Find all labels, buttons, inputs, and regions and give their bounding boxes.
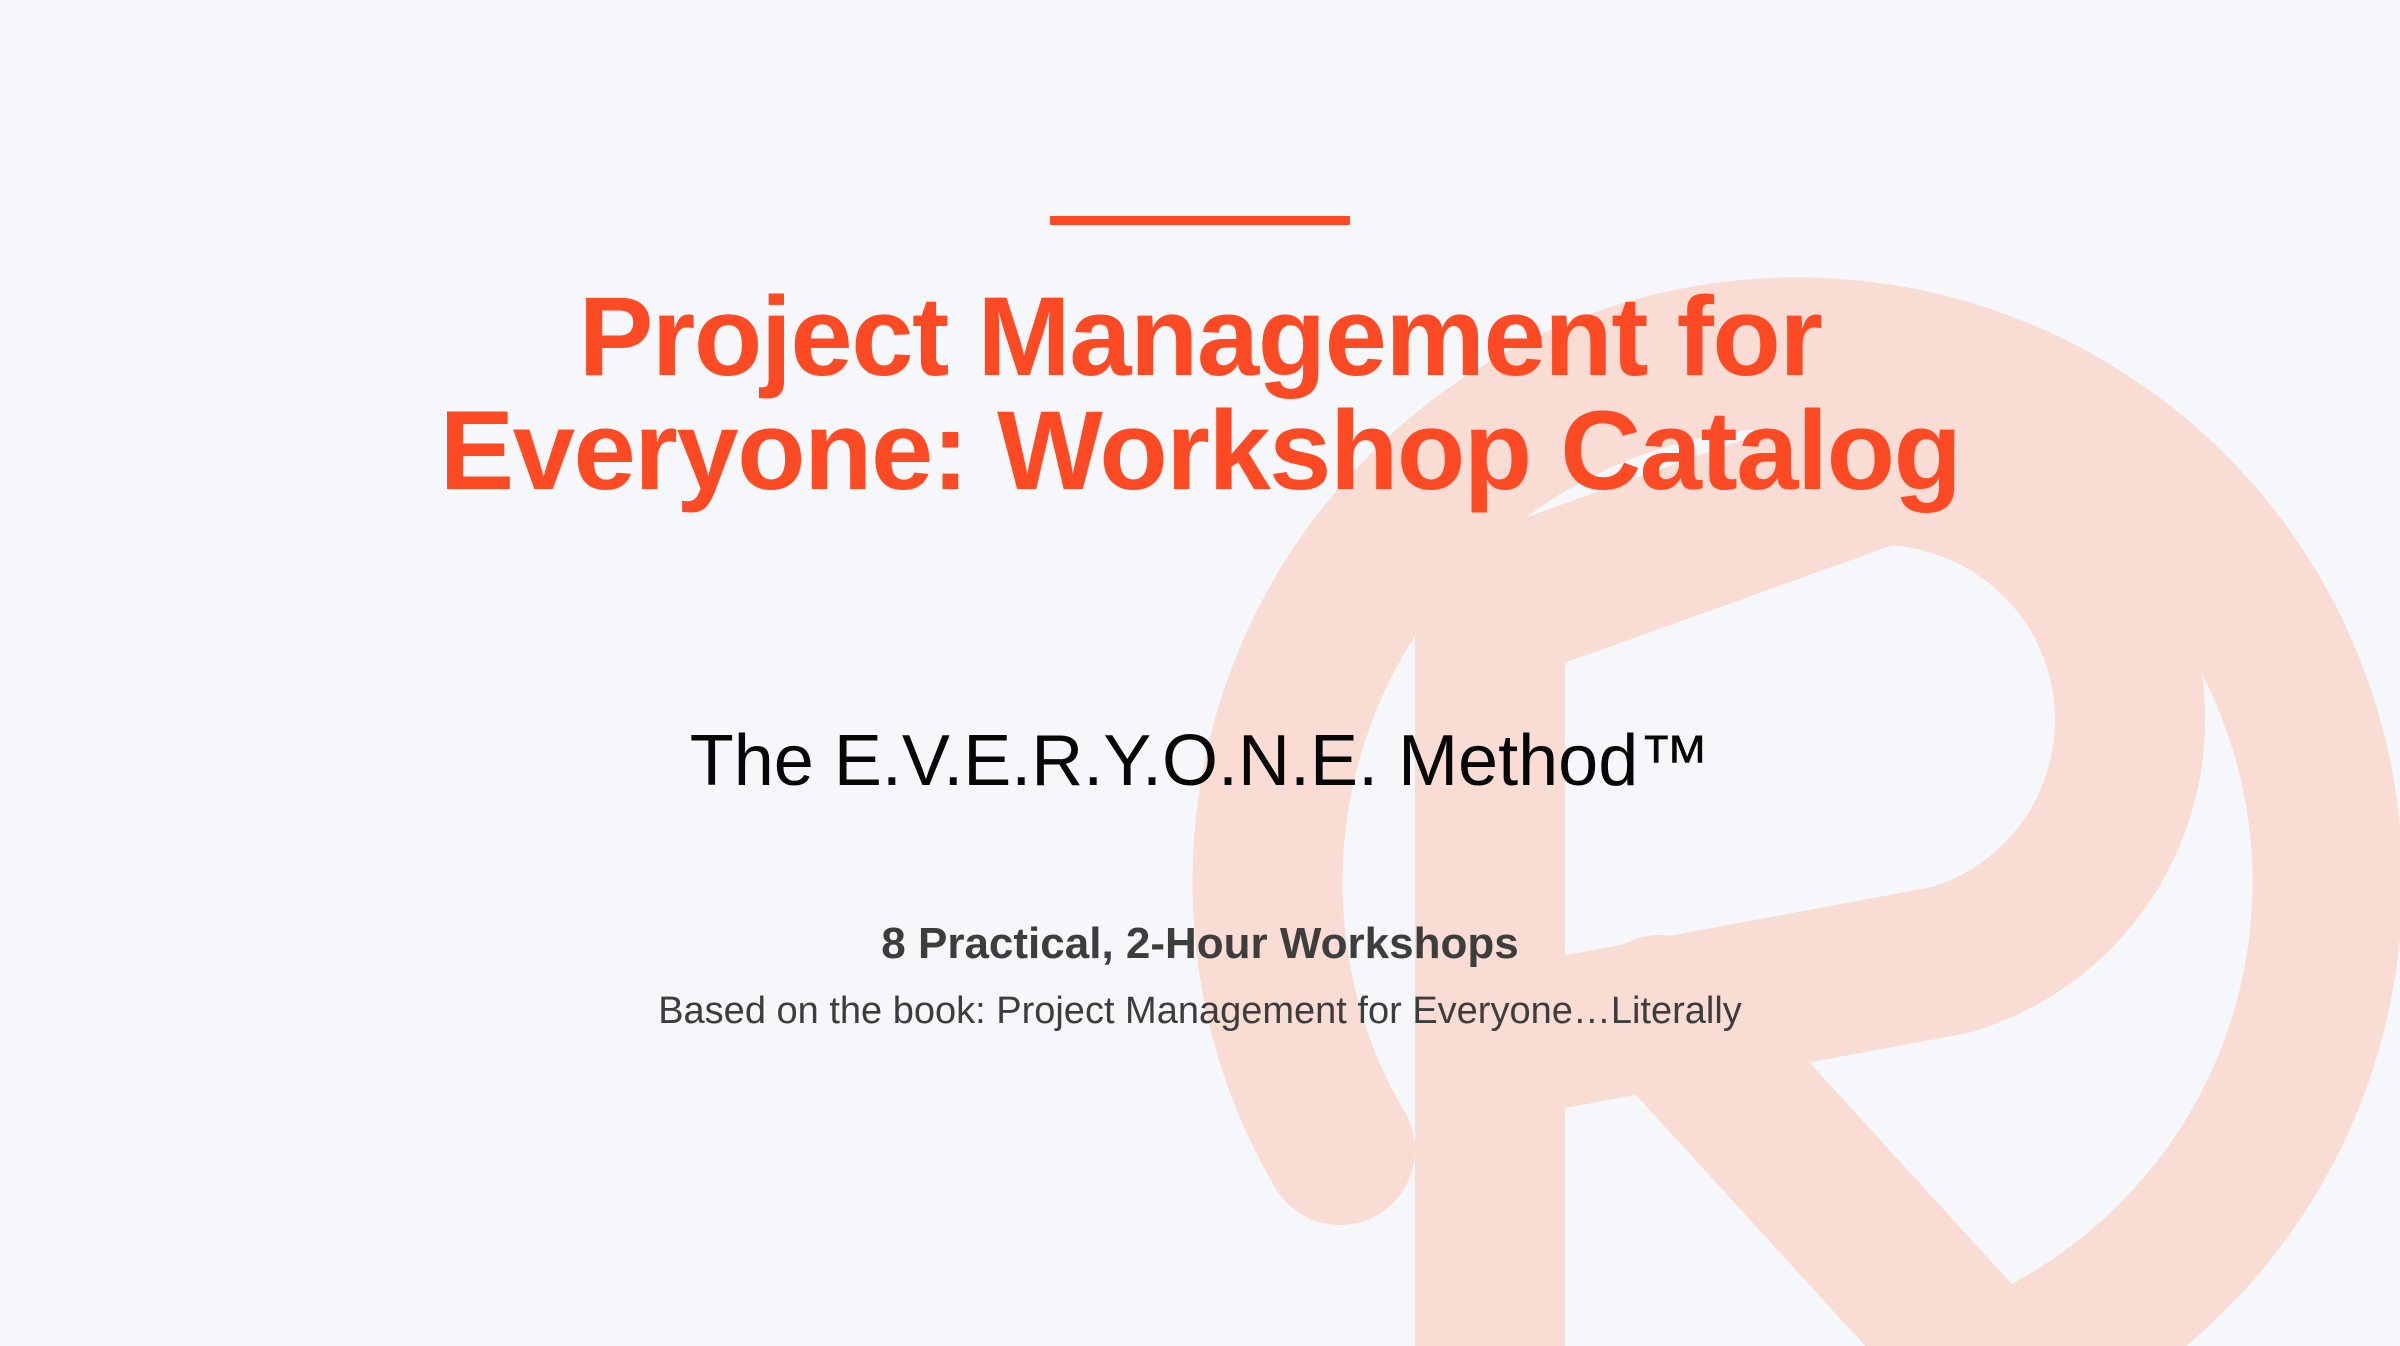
workshop-count-tagline: 8 Practical, 2-Hour Workshops [0,918,2400,971]
method-subtitle: The E.V.E.R.Y.O.N.E. Method™ [0,722,2400,801]
page-title: Project Management for Everyone: Worksho… [0,280,2400,508]
accent-rule-wrapper [0,216,2400,225]
book-credit-line: Based on the book: Project Management fo… [0,988,2400,1036]
title-slide: Project Management for Everyone: Worksho… [0,0,2400,1346]
accent-rule [1050,216,1350,225]
slide-content: Project Management for Everyone: Worksho… [0,0,2400,1346]
